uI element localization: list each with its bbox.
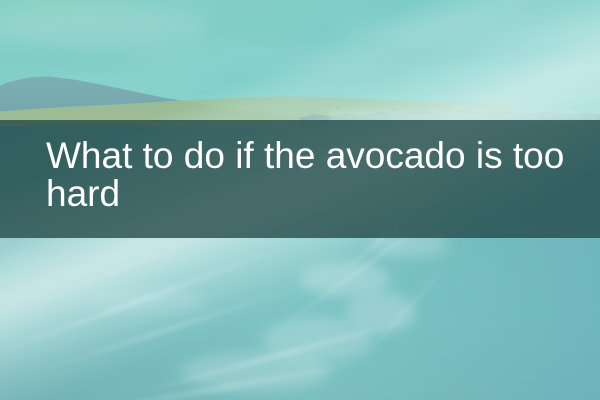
article-cover: What to do if the avocado is too hard bbox=[0, 0, 600, 400]
title-overlay-band: What to do if the avocado is too hard bbox=[0, 120, 600, 238]
page-title: What to do if the avocado is too hard bbox=[0, 120, 600, 213]
